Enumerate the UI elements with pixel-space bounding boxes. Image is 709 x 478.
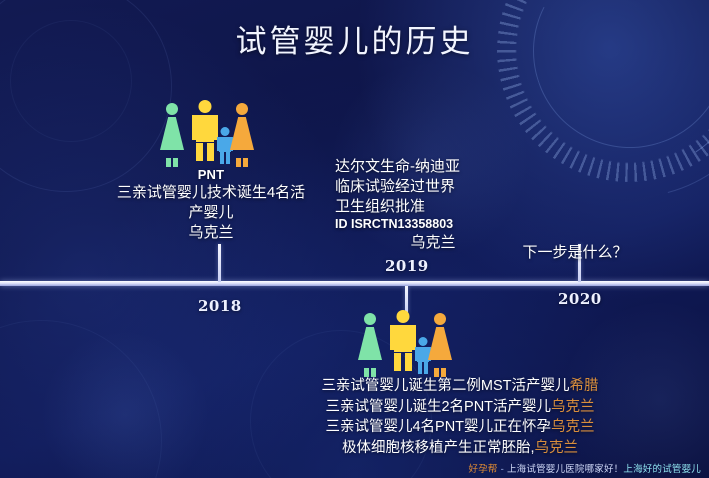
man-yellow-icon [390,320,416,370]
annotation-block-2018: PNT 三亲试管婴儿技术诞生4名活 产婴儿 乌克兰 [88,166,334,243]
watermark-brand: 好孕帮 [469,464,498,475]
annotation-line: 达尔文生命-纳迪亚 [335,157,531,177]
timeline-year-2018: 2018 [198,297,242,315]
timeline-axis [0,281,709,286]
annotation-line: 临床试验经过世界 [335,177,531,197]
family-pictogram-group-bottom [358,314,454,376]
woman-green-icon [160,112,184,158]
annotation-block-2020: 下一步是什么？ [495,243,655,263]
annotation-country: 乌克兰 [88,223,334,243]
annotation-line: 三亲试管婴儿诞生第二例MST活产婴儿希腊 [270,376,650,397]
watermark-tail: 上海好的试管婴儿 [623,464,701,475]
timeline-tick-2018 [218,244,221,282]
annotation-line: 下一步是什么？ [495,243,655,263]
family-pictogram-group-top [160,104,256,166]
woman-green-icon [358,322,382,368]
background-glow-decor [40,330,210,478]
annotation-line: 产婴儿 [88,203,334,223]
annotation-line: 三亲试管婴儿技术诞生4名活 [88,183,334,203]
hud-pointer-icon [618,0,635,4]
annotation-country: 乌克兰 [551,399,595,415]
watermark-text: 上海试管婴儿医院哪家好！ [507,464,623,475]
background-ring-decor [0,320,162,478]
woman-orange-icon [230,112,254,158]
annotation-line: 三亲试管婴儿诞生2名PNT活产婴儿乌克兰 [270,397,650,418]
annotation-line: 三亲试管婴儿4名PNT婴儿正在怀孕乌克兰 [270,417,650,438]
annotation-line: 极体细胞核移植产生正常胚胎,乌克兰 [270,438,650,459]
annotation-country: 乌克兰 [551,419,595,435]
annotation-block-2019-top: 达尔文生命-纳迪亚 临床试验经过世界 卫生组织批准 ID ISRCTN13358… [335,157,531,253]
annotation-country: 希腊 [570,378,599,394]
timeline-year-2019: 2019 [385,257,429,275]
timeline-year-2020: 2020 [558,290,602,308]
presentation-slide: 试管婴儿的历史 2018 2019 2020 [0,0,709,478]
annotation-text: 三亲试管婴儿诞生第二例MST活产婴儿 [321,378,569,394]
annotation-block-2019-bottom: 三亲试管婴儿诞生第二例MST活产婴儿希腊 三亲试管婴儿诞生2名PNT活产婴儿乌克… [270,376,650,458]
annotation-text: 三亲试管婴儿诞生2名PNT活产婴儿 [325,399,551,415]
watermark: 好孕帮-上海试管婴儿医院哪家好！上海好的试管婴儿 [469,461,702,475]
annotation-text: 三亲试管婴儿4名PNT婴儿正在怀孕 [325,419,551,435]
annotation-line: 卫生组织批准 [335,197,531,217]
watermark-separator: - [501,464,504,475]
annotation-country: 乌克兰 [535,440,579,456]
page-title: 试管婴儿的历史 [0,16,709,61]
trial-id: ID ISRCTN13358803 [335,216,531,233]
man-yellow-icon [192,110,218,160]
woman-orange-icon [428,322,452,368]
annotation-text: 极体细胞核移植产生正常胚胎, [342,440,535,456]
annotation-line: PNT [88,166,334,183]
